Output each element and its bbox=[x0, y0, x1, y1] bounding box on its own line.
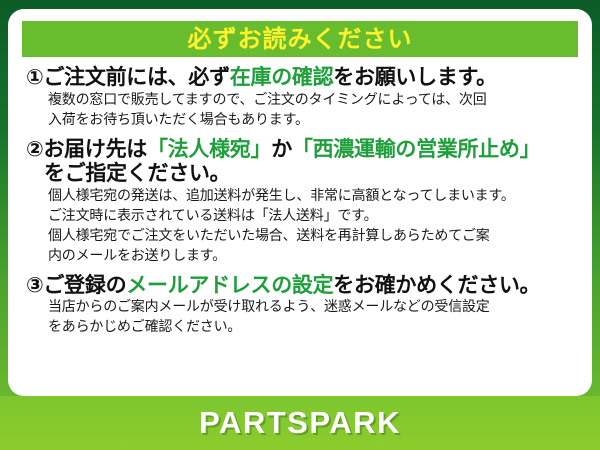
notice-item-3-head-highlight: メールアドレスの設定 bbox=[126, 273, 333, 297]
notice-item-2: ②お届け先は「法人様宛」か「西濃運輸の営業所止め」 をご指定ください。 個人様宅… bbox=[26, 137, 576, 267]
page-title: 必ずお読みください bbox=[188, 27, 413, 51]
notice-item-2-body-line-1: 個人様宅宛の発送は、追加送料が発生し、非常に高額となってしまいます。 bbox=[48, 187, 576, 207]
notice-item-2-head-highlight: 「法人様宛」 bbox=[147, 137, 271, 161]
notice-frame: 必ずお読みください ①ご注文前には、必ず在庫の確認をお願いします。 複数の窓口で… bbox=[0, 0, 600, 450]
notice-item-1-marker: ① bbox=[26, 65, 43, 90]
notice-item-3-body-line-2: をあらかじめご確認ください。 bbox=[48, 318, 576, 338]
notice-item-3-body: 当店からのご案内メールが受け取れるよう、迷惑メールなどの受信設定 をあらかじめご… bbox=[26, 298, 576, 338]
notice-item-1-body-line-1: 複数の窓口で販売してますので、ご注文のタイミングによっては、次回 bbox=[48, 91, 576, 111]
notice-item-3-heading: ③ご登録のメールアドレスの設定をお確かめください。 bbox=[26, 273, 576, 298]
notice-item-2-body: 個人様宅宛の発送は、追加送料が発生し、非常に高額となってしまいます。 ご注文時に… bbox=[26, 187, 576, 267]
notice-item-1-head-before: ご注文前には、必ず bbox=[43, 65, 229, 89]
notice-item-1-body: 複数の窓口で販売してますので、ご注文のタイミングによっては、次回 入荷をお待ち頂… bbox=[26, 91, 576, 131]
notice-item-1-heading: ①ご注文前には、必ず在庫の確認をお願いします。 bbox=[26, 65, 576, 90]
brand-logo-text: PARTSPARK bbox=[199, 405, 401, 441]
notice-item-2-head-highlight-2: 「西濃運輸の営業所止め」 bbox=[292, 137, 540, 161]
notice-item-2-body-line-3: 個人様宅宛でご注文をいただいた場合、送料を再計算しあらためてご案 bbox=[48, 227, 576, 247]
notice-item-1-body-line-2: 入荷をお待ち頂いただく場合もあります。 bbox=[48, 111, 576, 131]
notice-item-2-heading: ②お届け先は「法人様宛」か「西濃運輸の営業所止め」 bbox=[26, 137, 576, 162]
notice-item-2-head-before: お届け先は bbox=[43, 137, 147, 161]
notice-panel: 必ずお読みください ①ご注文前には、必ず在庫の確認をお願いします。 複数の窓口で… bbox=[8, 9, 592, 396]
notice-item-1-head-after: をお願いします。 bbox=[333, 65, 497, 89]
notice-item-2-body-line-4: 内のメールをお送りします。 bbox=[48, 247, 576, 267]
notice-item-1-head-highlight: 在庫の確認 bbox=[230, 65, 334, 89]
notice-item-3-head-before: ご登録の bbox=[43, 273, 126, 297]
notice-item-2-head-middle: か bbox=[271, 137, 292, 161]
title-banner: 必ずお読みください bbox=[22, 21, 578, 57]
notice-item-3: ③ご登録のメールアドレスの設定をお確かめください。 当店からのご案内メールが受け… bbox=[26, 273, 576, 339]
notice-item-3-marker: ③ bbox=[26, 273, 43, 298]
notice-item-2-heading-line-2: をご指定ください。 bbox=[26, 161, 576, 186]
notice-item-1: ①ご注文前には、必ず在庫の確認をお願いします。 複数の窓口で販売してますので、ご… bbox=[26, 65, 576, 131]
footer-brand-bar: PARTSPARK bbox=[0, 396, 600, 450]
notice-item-2-body-line-2: ご注文時に表示されている送料は「法人送料」です。 bbox=[48, 207, 576, 227]
notice-item-3-body-line-1: 当店からのご案内メールが受け取れるよう、迷惑メールなどの受信設定 bbox=[48, 298, 576, 318]
notice-item-2-marker: ② bbox=[26, 137, 43, 162]
notice-item-3-head-after: をお確かめください。 bbox=[333, 273, 540, 297]
notice-items: ①ご注文前には、必ず在庫の確認をお願いします。 複数の窓口で販売してますので、ご… bbox=[22, 63, 578, 338]
